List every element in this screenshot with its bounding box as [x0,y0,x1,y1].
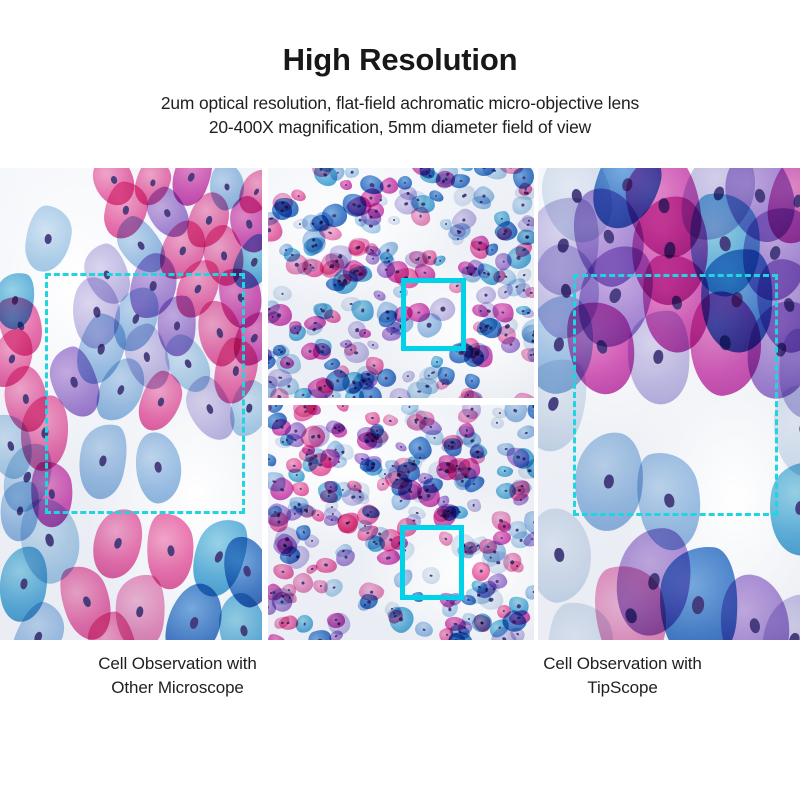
header: High Resolution 2um optical resolution, … [0,0,800,140]
caption-left-line-1: Cell Observation with [0,652,355,676]
epithelial-cell [522,309,534,318]
panel-captions: Cell Observation with Other Microscope C… [0,652,800,722]
epithelial-cell [340,179,352,189]
subtitle-line-2: 20-400X magnification, 5mm diameter fiel… [0,115,800,140]
epithelial-cell [335,481,351,497]
panel-tipscope [538,168,800,640]
epithelial-cell [525,287,534,299]
epithelial-cell [497,442,515,455]
epithelial-cell [467,498,481,511]
caption-right-line-2: TipScope [445,676,800,700]
epithelial-cell [387,216,400,225]
page-title: High Resolution [0,0,800,77]
caption-tipscope: Cell Observation with TipScope [445,652,800,700]
caption-other-microscope: Cell Observation with Other Microscope [0,652,355,700]
comparison-panel-grid [0,168,800,640]
panel-other-microscope [0,168,262,640]
panel-low-mag-lower [268,405,534,640]
panel-low-mag-upper [268,168,534,398]
caption-right-line-1: Cell Observation with [445,652,800,676]
page-subtitle: 2um optical resolution, flat-field achro… [0,77,800,140]
caption-left-line-2: Other Microscope [0,676,355,700]
subtitle-line-1: 2um optical resolution, flat-field achro… [0,91,800,116]
epithelial-cell [518,462,534,480]
